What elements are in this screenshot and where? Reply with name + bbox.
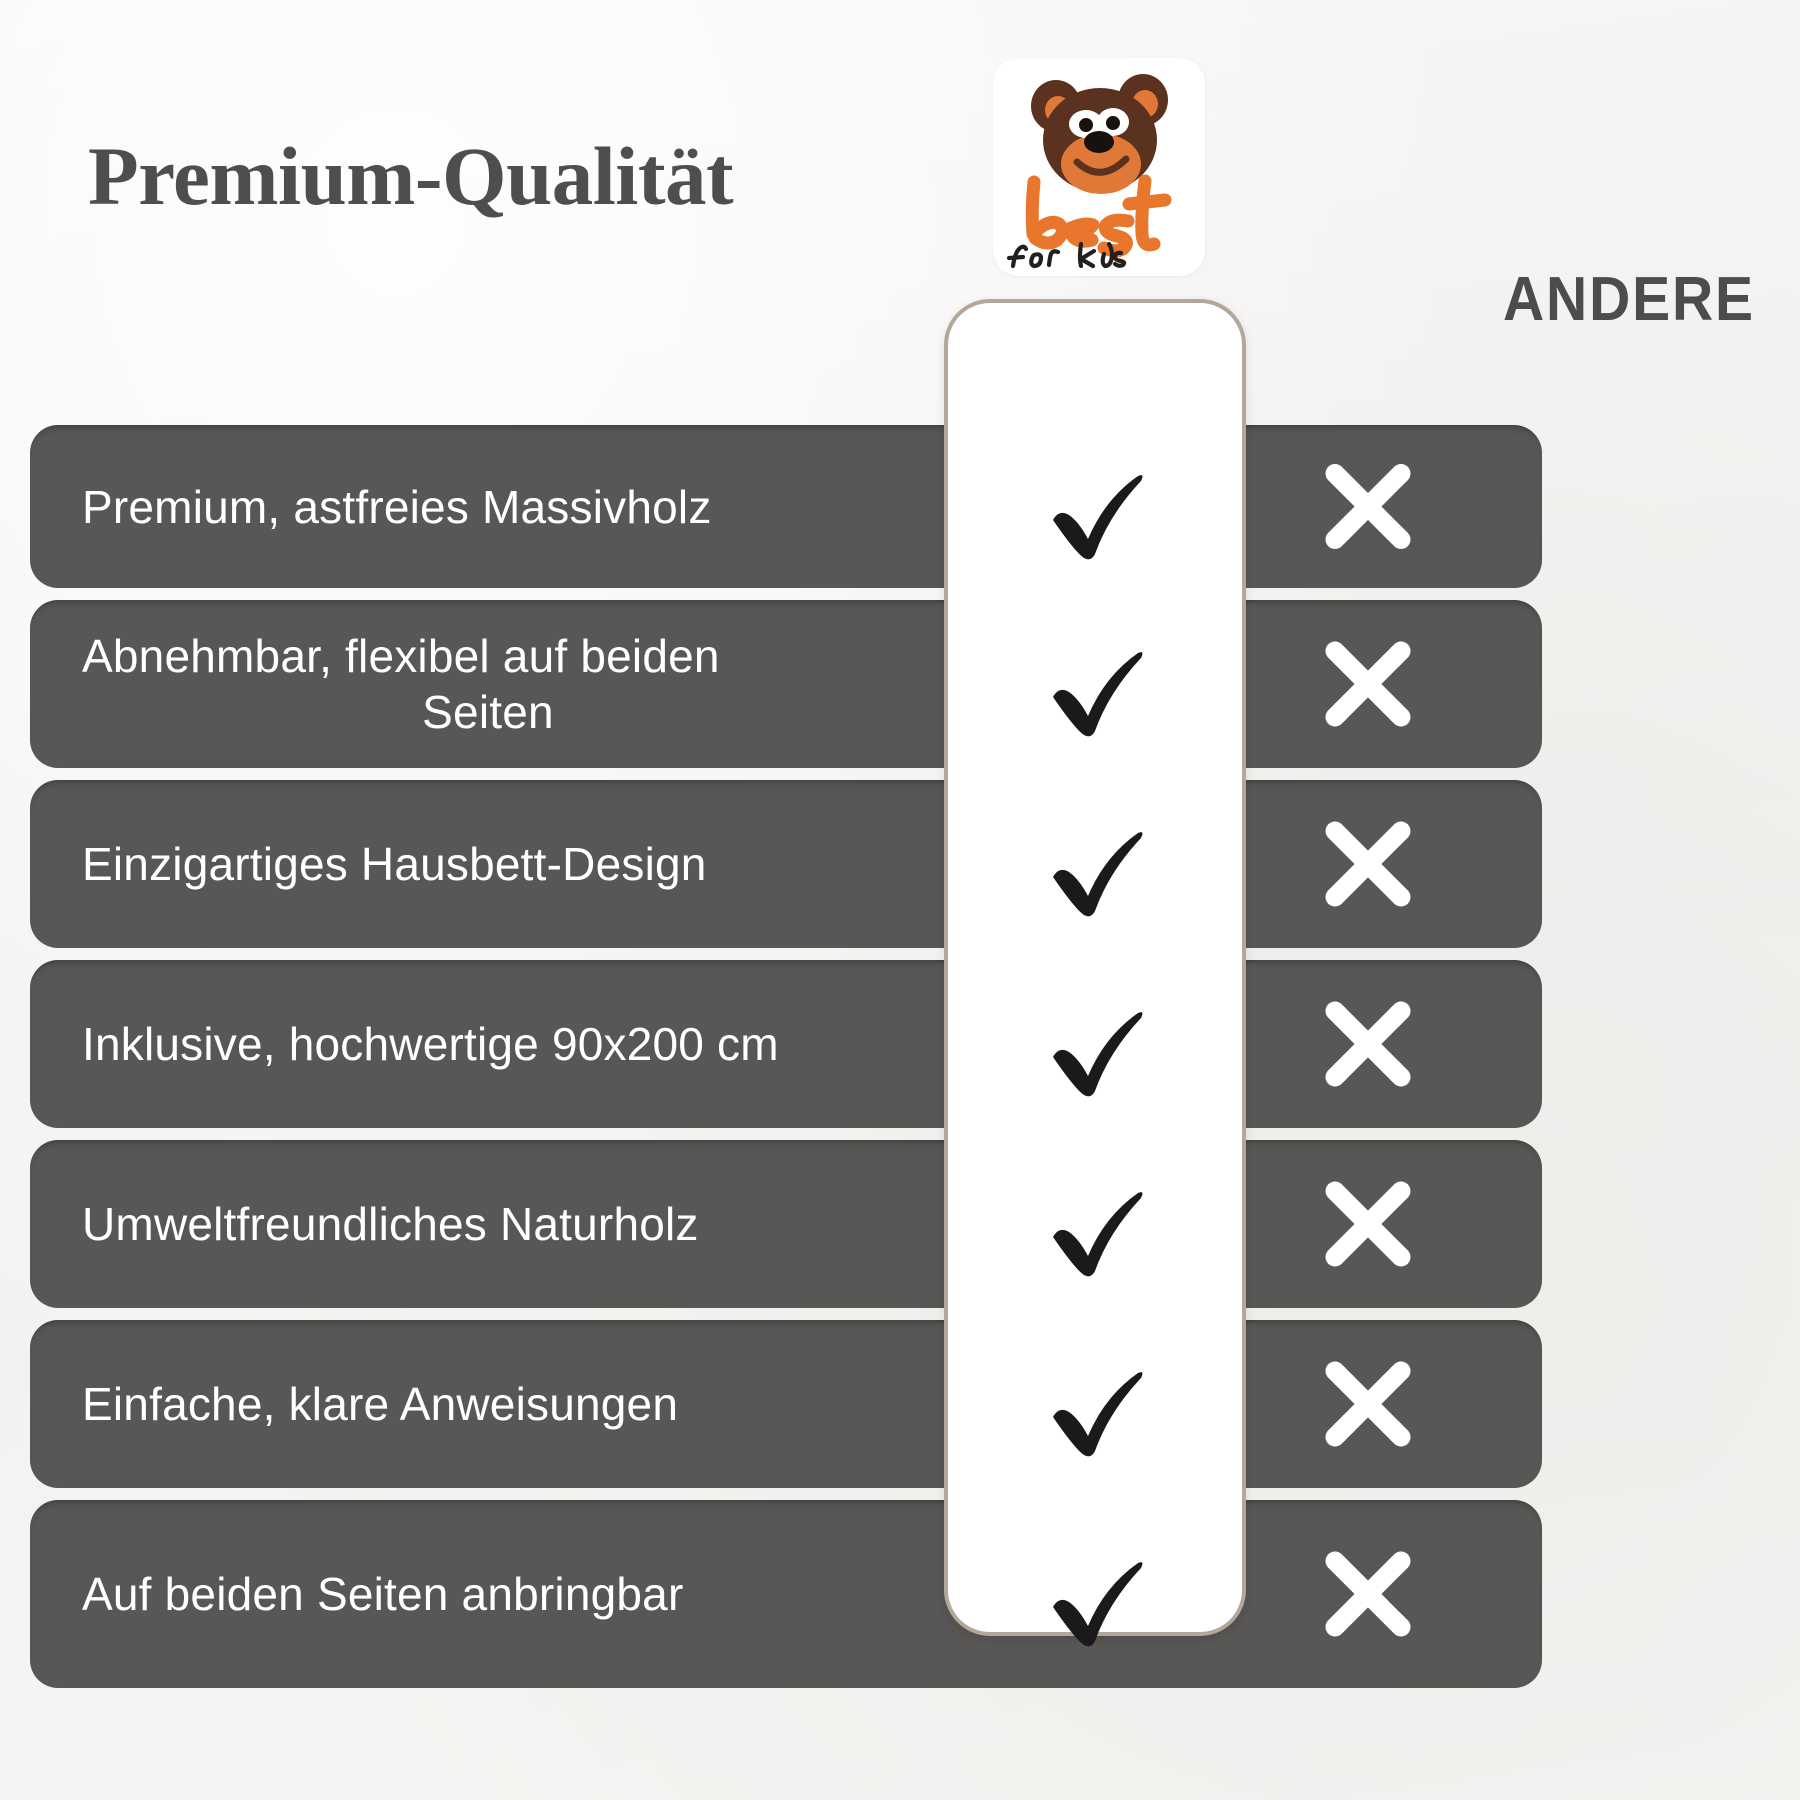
row-feature-label: Einzigartiges Hausbett-Design: [82, 836, 948, 892]
cross-icon: [1194, 1140, 1542, 1308]
cross-icon: [1194, 425, 1542, 588]
comparison-row: Inklusive, hochwertige 90x200 cm: [30, 960, 1542, 1128]
bear-head-icon: [993, 58, 1205, 276]
comparison-row: Umweltfreundliches Naturholz: [30, 1140, 1542, 1308]
row-label-line2: Seiten: [82, 684, 948, 740]
brand-column-panel: [944, 299, 1246, 1636]
comparison-row: Premium, astfreies Massivholz: [30, 425, 1542, 588]
comparison-row: Einfache, klare Anweisungen: [30, 1320, 1542, 1488]
row-label-line1: Abnehmbar, flexibel auf beiden: [82, 630, 720, 682]
comparison-row: Einzigartiges Hausbett-Design: [30, 780, 1542, 948]
row-feature-label: Einfache, klare Anweisungen: [82, 1376, 948, 1432]
cross-icon: [1194, 960, 1542, 1128]
column-header-others: ANDERE: [1503, 264, 1755, 335]
row-feature-label: Umweltfreundliches Naturholz: [82, 1196, 948, 1252]
comparison-rows: Premium, astfreies MassivholzAbnehmbar, …: [30, 425, 1542, 1700]
cross-icon: [1194, 1500, 1542, 1688]
cross-icon: [1194, 600, 1542, 768]
row-feature-label: Inklusive, hochwertige 90x200 cm: [82, 1016, 948, 1072]
brand-logo-card: [993, 58, 1205, 276]
comparison-row: Abnehmbar, flexibel auf beidenSeiten: [30, 600, 1542, 768]
page-title: Premium-Qualität: [88, 128, 733, 224]
row-feature-label: Abnehmbar, flexibel auf beidenSeiten: [82, 628, 948, 740]
row-feature-label: Premium, astfreies Massivholz: [82, 478, 948, 534]
cross-icon: [1194, 780, 1542, 948]
cross-icon: [1194, 1320, 1542, 1488]
row-feature-label: Auf beiden Seiten anbringbar: [82, 1566, 948, 1622]
comparison-row: Auf beiden Seiten anbringbar: [30, 1500, 1542, 1688]
